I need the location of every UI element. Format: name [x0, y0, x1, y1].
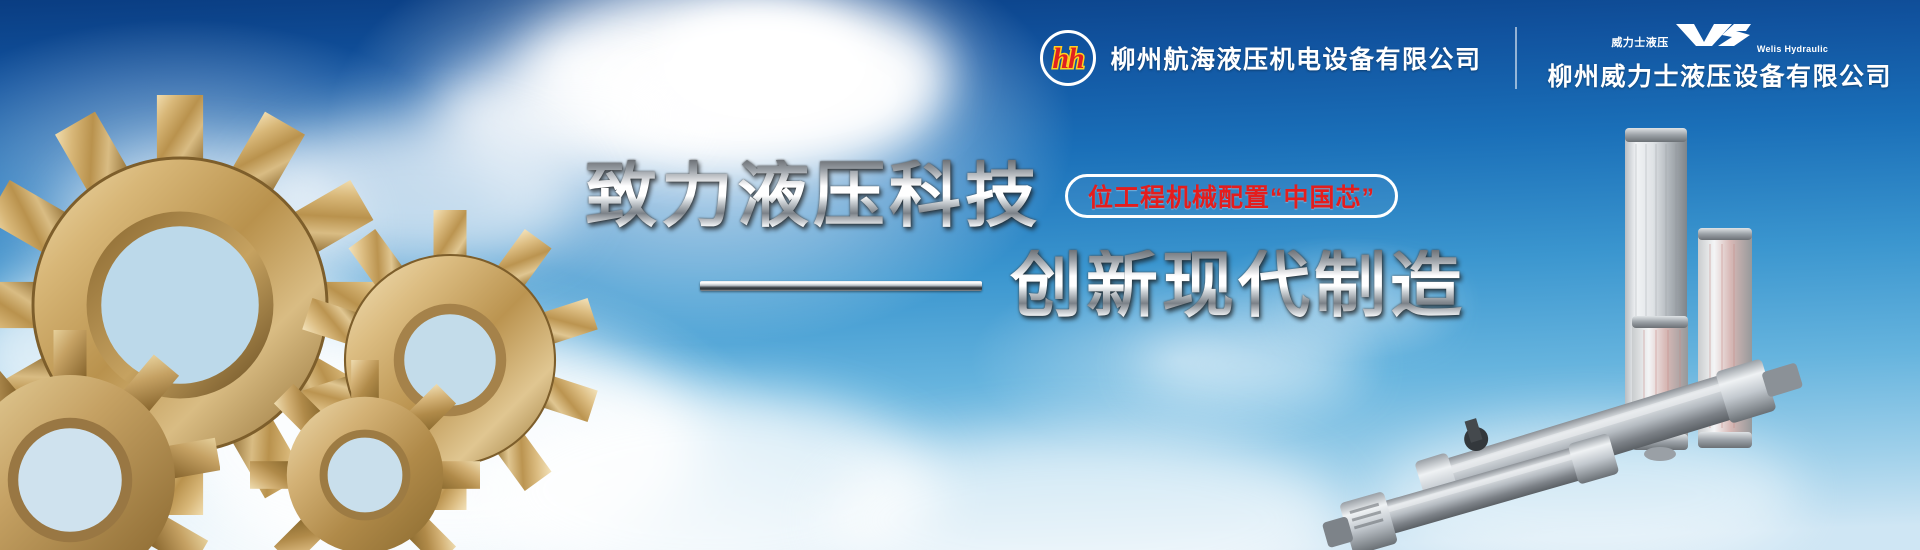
- hero-headline: 致力液压科技 位工程机械配置“中国芯” 创新现代制造: [0, 152, 1920, 352]
- header-brand-bar: hh 柳州航海液压机电设备有限公司 威力士液压 Welis Hydraulic …: [1040, 22, 1892, 93]
- hydraulic-cylinder-large: [1407, 324, 1808, 518]
- metallic-rule-icon: [700, 281, 982, 291]
- headline-line-2-row: 创新现代制造: [700, 250, 1466, 322]
- headline-line-1: 致力液压科技: [585, 160, 1041, 232]
- gear-bottom: [0, 330, 220, 550]
- headline-line-1-row: 致力液压科技 位工程机械配置“中国芯”: [585, 160, 1398, 232]
- brand-welis-name: 柳州威力士液压设备有限公司: [1547, 57, 1892, 93]
- welis-mark-row: 威力士液压 Welis Hydraulic: [1611, 22, 1828, 53]
- svg-text:hh: hh: [1053, 42, 1085, 75]
- gear-small: [250, 360, 480, 550]
- ws-chevron-icon: [1674, 22, 1752, 53]
- brand-hanghai-name: 柳州航海液压机电设备有限公司: [1110, 40, 1481, 76]
- brand-hanghai[interactable]: hh 柳州航海液压机电设备有限公司: [1040, 30, 1515, 86]
- brand-divider: [1515, 27, 1517, 89]
- welis-mark-cn: 威力士液压: [1611, 34, 1669, 50]
- headline-line-2: 创新现代制造: [1010, 250, 1466, 322]
- hero-banner: 致力液压科技 位工程机械配置“中国芯” 创新现代制造 hh 柳州航海液压机电设备…: [0, 0, 1920, 550]
- hh-monogram-icon: hh: [1040, 30, 1096, 86]
- hydraulic-cylinder-small: [1318, 427, 1621, 550]
- slogan-badge: 位工程机械配置“中国芯”: [1065, 174, 1398, 218]
- brand-welis[interactable]: 威力士液压 Welis Hydraulic 柳州威力士液压设备有限公司: [1547, 22, 1892, 93]
- welis-mark-en: Welis Hydraulic: [1757, 44, 1828, 54]
